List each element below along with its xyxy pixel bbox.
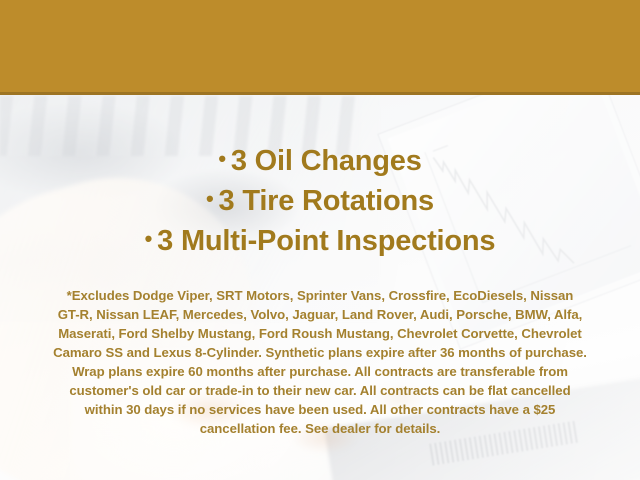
disclaimer-line: GT-R, Nissan LEAF, Mercedes, Volvo, Jagu… xyxy=(24,305,616,324)
extracare-promo-banner: ExtraCare Package* •3 Oil Changes •3 Tir… xyxy=(0,0,640,480)
benefit-item-tire-rotations: •3 Tire Rotations xyxy=(0,180,640,220)
disclaimer-line: Maserati, Ford Shelby Mustang, Ford Rous… xyxy=(24,324,616,343)
benefit-item-label: 3 Multi-Point Inspections xyxy=(157,225,495,257)
benefit-item-multi-point-inspections: •3 Multi-Point Inspections xyxy=(0,220,640,260)
disclaimer-line: *Excludes Dodge Viper, SRT Motors, Sprin… xyxy=(24,286,616,305)
disclaimer-line: Wrap plans expire 60 months after purcha… xyxy=(24,362,616,381)
bullet-icon: • xyxy=(218,146,226,171)
header-divider xyxy=(0,92,640,95)
benefit-item-label: 3 Tire Rotations xyxy=(219,185,434,217)
disclaimer-line: within 30 days if no services have been … xyxy=(24,400,616,419)
disclaimer-line: cancellation fee. See dealer for details… xyxy=(24,419,616,438)
bullet-icon: • xyxy=(145,226,153,251)
disclaimer-text: *Excludes Dodge Viper, SRT Motors, Sprin… xyxy=(24,286,616,438)
benefit-item-oil-changes: •3 Oil Changes xyxy=(0,140,640,180)
disclaimer-line: customer's old car or trade-in to their … xyxy=(24,381,616,400)
benefits-list: •3 Oil Changes •3 Tire Rotations •3 Mult… xyxy=(0,140,640,260)
header-banner xyxy=(0,0,640,92)
benefit-item-label: 3 Oil Changes xyxy=(231,145,422,177)
disclaimer-line: Camaro SS and Lexus 8-Cylinder. Syntheti… xyxy=(24,343,616,362)
bullet-icon: • xyxy=(206,186,214,211)
